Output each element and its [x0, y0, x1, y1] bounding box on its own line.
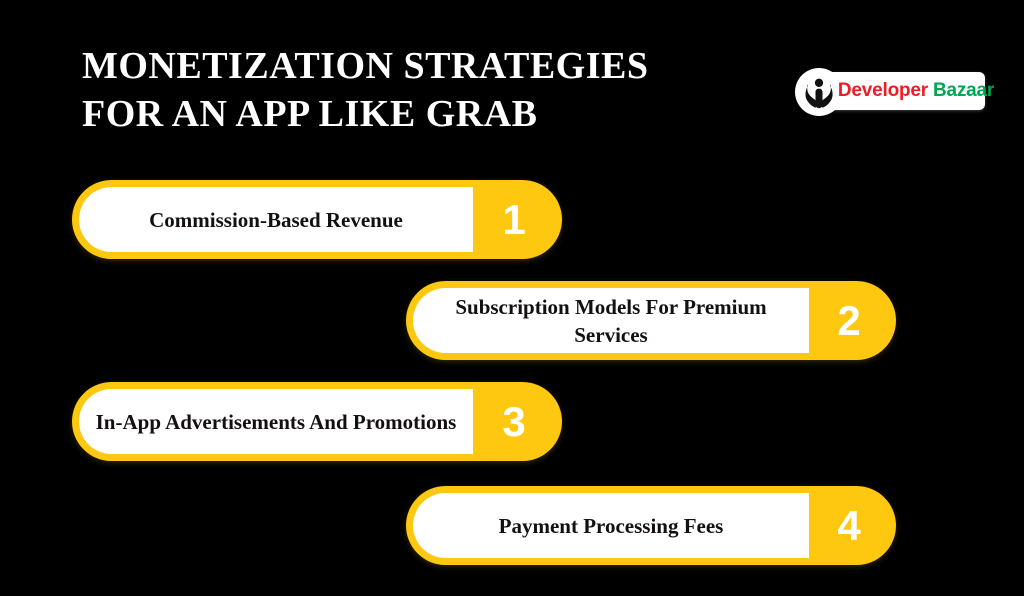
header: Monetization Strategies For An App Like …: [0, 0, 1024, 160]
strategy-item-2[interactable]: Subscription Models For Premium Services…: [406, 281, 896, 360]
strategy-item-1[interactable]: Commission-Based Revenue 1: [72, 180, 562, 259]
person-icon: [795, 68, 843, 116]
strategy-number-3: 3: [473, 389, 555, 454]
logo-word-bazaar: Bazaar: [933, 80, 994, 102]
strategy-item-4[interactable]: Payment Processing Fees 4: [406, 486, 896, 565]
strategy-number-2: 2: [809, 288, 889, 353]
strategy-number-1: 1: [473, 187, 555, 252]
strategy-label-1: Commission-Based Revenue: [79, 187, 473, 252]
strategy-item-3[interactable]: In-App Advertisements And Promotions 3: [72, 382, 562, 461]
brand-logo[interactable]: Developer Bazaar: [795, 68, 985, 116]
strategy-number-4: 4: [809, 493, 889, 558]
strategy-label-3: In-App Advertisements And Promotions: [79, 389, 473, 454]
strategy-label-4: Payment Processing Fees: [413, 493, 809, 558]
logo-word-developer: Developer: [838, 80, 928, 102]
strategy-label-2: Subscription Models For Premium Services: [413, 288, 809, 353]
page-title: Monetization Strategies For An App Like …: [82, 42, 722, 138]
logo-wordmark: Developer Bazaar: [847, 72, 985, 110]
infographic-canvas: Monetization Strategies For An App Like …: [0, 0, 1024, 596]
